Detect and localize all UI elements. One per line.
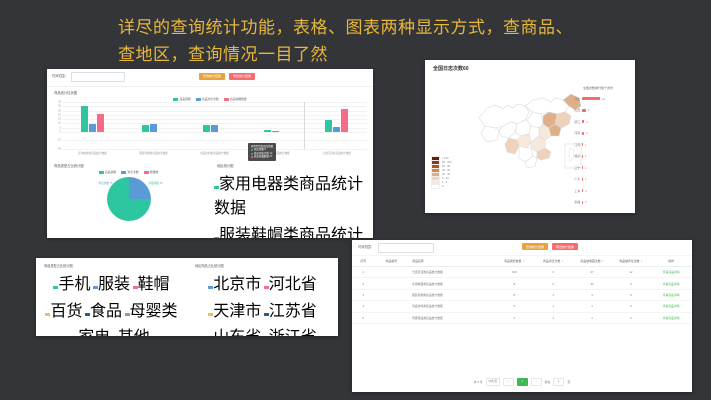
- legend-label: 江苏省: [269, 303, 317, 320]
- filter-label: 时间范围：: [52, 73, 68, 78]
- sort-icon[interactable]: ⇅: [522, 260, 524, 263]
- ranking-bar: [582, 178, 583, 181]
- table-body: 1日用百货类商品统计数据13062712查看商品详情2家用电器类商品统计数据82…: [352, 267, 692, 324]
- ranking-province-name: 辽宁: [567, 166, 580, 170]
- ranking-value: 1: [585, 143, 587, 147]
- map-body: ≥ 10080 - 10060 - 8040 - 6020 - 405 - 20…: [425, 72, 635, 204]
- ranking-bar: [582, 201, 583, 204]
- pie-left-chart[interactable]: 浏览次数 75 商品销量 25: [107, 177, 151, 221]
- ranking-province-name: 浙江: [567, 120, 580, 124]
- tooltip-dot-icon: [251, 153, 253, 155]
- pie-left-label-1: 商品销量 25: [149, 181, 163, 185]
- bar[interactable]: [264, 130, 271, 132]
- map-legend-label: 80 - 100: [442, 161, 452, 164]
- map-legend-label: 5 - 20: [442, 177, 449, 180]
- table-column-header[interactable]: 商品被评论次数⇅: [611, 256, 650, 267]
- table-cell-sales: 2: [495, 312, 534, 323]
- pies-left-legend-item[interactable]: 母婴类: [125, 297, 178, 321]
- table-column-header[interactable]: 商品浏览次数⇅: [534, 256, 573, 267]
- table-cell-name: 日用百货类商品统计数据: [408, 267, 495, 278]
- bar-group[interactable]: [306, 85, 367, 149]
- pie-left-legend-item[interactable]: 收藏数: [144, 170, 159, 174]
- view-detail-link[interactable]: 查看商品详情: [663, 316, 680, 320]
- legend-label: 食品: [90, 303, 122, 320]
- legend-label: 百货: [50, 303, 82, 320]
- ranking-row: 辽宁1: [567, 162, 629, 174]
- table-date-range-input[interactable]: [378, 243, 434, 253]
- tooltip-dot-icon: [251, 149, 253, 151]
- bar-group[interactable]: [245, 85, 306, 149]
- pie-left-box: 商品类型占比统计图 商品销量浏览次数收藏数 浏览次数 75 商品销量 25: [47, 160, 210, 238]
- tooltip-text: 商品收藏数量 27: [254, 155, 272, 158]
- y-axis-tick: -20: [57, 148, 61, 151]
- table-cell-idx: 2: [352, 278, 375, 289]
- y-axis: 35302520151050-10-20: [53, 102, 62, 149]
- ranking-value: 1: [585, 154, 587, 158]
- map-legend-label: ≥ 100: [442, 157, 448, 160]
- pies-right-legend-item[interactable]: 江苏省: [264, 297, 317, 321]
- table-cell-name: 食品饮料类商品统计数据: [408, 301, 495, 312]
- ranking-row: 上海0: [567, 185, 629, 197]
- legend-swatch-icon: [144, 171, 149, 174]
- table-search-button[interactable]: 查询统计结果: [522, 243, 548, 250]
- x-axis-label: 家用电器类商品统计数据: [62, 149, 123, 159]
- pie-right-legend-item[interactable]: 服装鞋帽类商品统计数据: [214, 221, 369, 239]
- pies-left-legend-item[interactable]: 食品: [85, 297, 122, 321]
- table-cell-code: [375, 267, 408, 278]
- ranking-province-name: 江苏: [567, 143, 580, 147]
- pie-charts-row: 商品类型占比统计图 商品销量浏览次数收藏数 浏览次数 75 商品销量 25 地区…: [47, 160, 373, 238]
- ranking-value: 1: [585, 166, 587, 170]
- table-cell-views: 1: [534, 289, 573, 300]
- x-axis-labels: 家用电器类商品统计数据服装鞋帽类商品统计数据食品饮料类商品统计数据母婴用品类商品…: [62, 149, 367, 159]
- table-cell-favs: 1: [573, 301, 612, 312]
- pies-panel-right: 地区商品占比统计图 北京市河北省天津市江苏省山东省浙江省广东省上海市福建省四川省: [187, 258, 338, 336]
- pies-left-legend[interactable]: 手机服装鞋帽百货食品母婴类家电其他: [36, 270, 187, 336]
- table-toolbar: 时间范围： 查询统计结果 导出统计结果: [352, 240, 692, 256]
- map-title: 全国日志次数60: [433, 65, 635, 72]
- view-detail-link[interactable]: 查看商品详情: [663, 304, 680, 308]
- bar[interactable]: [211, 125, 218, 132]
- pies-panel-left: 商品类型占比统计图 手机服装鞋帽百货食品母婴类家电其他: [36, 258, 187, 336]
- ranking-row: 河南3: [567, 128, 629, 140]
- pagination[interactable]: 共 5 条 10条/页 ‹ 1 › 前往 1 页: [352, 378, 692, 386]
- ranking-value: 5: [588, 108, 590, 112]
- table-cell-idx: 3: [352, 289, 375, 300]
- legend-swatch-icon: [121, 171, 126, 174]
- table-cell-code: [375, 312, 408, 323]
- pie-right-caption: 地区统计图: [217, 163, 373, 168]
- pies-right-legend[interactable]: 北京市河北省天津市江苏省山东省浙江省广东省上海市福建省四川省: [187, 270, 338, 336]
- legend-label: 鞋帽: [138, 276, 170, 293]
- table-cell-name: 家用电器类商品统计数据: [408, 278, 495, 289]
- pie-left-label-0: 浏览次数 75: [99, 181, 113, 185]
- legend-label: 山东省: [213, 329, 261, 336]
- legend-label: 天津市: [213, 303, 261, 320]
- pie-left-legend-item[interactable]: 商品销量: [99, 170, 116, 174]
- table-cell-views: 1: [534, 301, 573, 312]
- province-ranking-list: 全国次数排行前十省份 河北24山西5浙江3河南3江苏1福建1辽宁1广东1上海0新…: [567, 86, 629, 208]
- search-button[interactable]: 查询统计结果: [199, 73, 225, 80]
- legend-label: 商品销量: [105, 170, 116, 174]
- table-filter-label: 时间范围：: [358, 244, 374, 249]
- table-cell-code: [375, 289, 408, 300]
- table-cell-action: 查看商品详情: [650, 267, 692, 278]
- bar[interactable]: [341, 109, 348, 132]
- pies-left-legend-item[interactable]: 鞋帽: [133, 270, 170, 294]
- ranking-value: 0: [585, 189, 587, 193]
- bar[interactable]: [325, 120, 332, 132]
- legend-label: 手机: [58, 276, 90, 293]
- table-cell-idx: 5: [352, 312, 375, 323]
- export-button[interactable]: 导出统计结果: [229, 73, 255, 80]
- ranking-bar: [582, 143, 583, 146]
- page-size-select[interactable]: 10条/页: [486, 378, 500, 386]
- map-legend-label: 0: [442, 185, 443, 188]
- table-cell-sales: 8: [495, 289, 534, 300]
- table-row: 4食品饮料类商品统计数据5115查看商品详情: [352, 301, 692, 312]
- table-column-header[interactable]: 操作: [650, 256, 692, 267]
- map-legend-label: 1 - 5: [442, 181, 447, 184]
- ranking-row: 江苏1: [567, 139, 629, 151]
- table-cell-code: [375, 301, 408, 312]
- table-cell-comments: 5: [611, 301, 650, 312]
- table-cell-sales: 8: [495, 278, 534, 289]
- table-cell-favs: 27: [573, 267, 612, 278]
- table-cell-views: 6: [534, 267, 573, 278]
- ranking-value: 1: [585, 177, 587, 181]
- y-axis-tick: 35: [58, 101, 61, 104]
- table-cell-favs: 1: [573, 312, 612, 323]
- bar[interactable]: [333, 127, 340, 132]
- table-cell-comments: 12: [611, 267, 650, 278]
- table-panel: 时间范围： 查询统计结果 导出统计结果 序号商品编号商品名称商品销售数量⇅商品浏…: [352, 240, 692, 392]
- table-cell-code: [375, 278, 408, 289]
- table-cell-comments: 2: [611, 312, 650, 323]
- ranking-value: 3: [586, 120, 588, 124]
- table-column-header[interactable]: 商品被收藏次数⇅: [573, 256, 612, 267]
- sort-icon[interactable]: ⇅: [561, 260, 563, 263]
- map-legend-label: 40 - 60: [442, 169, 450, 172]
- table-cell-views: 2: [534, 278, 573, 289]
- table-cell-comments: 9: [611, 278, 650, 289]
- pies-left-legend-item[interactable]: 手机: [53, 270, 90, 294]
- map-color-scale-legend: ≥ 10080 - 10060 - 8040 - 6020 - 405 - 20…: [431, 156, 452, 188]
- table-cell-favs: 3: [573, 289, 612, 300]
- view-detail-link[interactable]: 查看商品详情: [663, 293, 680, 297]
- pies-left-legend-item[interactable]: 家电: [73, 323, 110, 336]
- bar-group[interactable]: [123, 85, 184, 149]
- prev-page-button[interactable]: ‹: [503, 378, 514, 386]
- table-row: 5母婴用品类商品统计数据2112查看商品详情: [352, 312, 692, 323]
- legend-label: 家电: [78, 329, 110, 336]
- table-cell-name: 服装鞋帽类商品统计数据: [408, 289, 495, 300]
- view-detail-link[interactable]: 查看商品详情: [663, 282, 680, 286]
- ranking-row: 山西5: [567, 105, 629, 117]
- ranking-row: 广东1: [567, 174, 629, 186]
- x-axis-label: 服装鞋帽类商品统计数据: [123, 149, 184, 159]
- ranking-province-name: 河北: [567, 97, 580, 101]
- y-axis-tick: 20: [58, 113, 61, 116]
- legend-label: 浙江省: [269, 329, 317, 336]
- bar-plot-area[interactable]: [62, 102, 367, 149]
- ranking-row: 河北24: [567, 93, 629, 105]
- ranking-province-name: 新疆: [567, 200, 580, 204]
- bar[interactable]: [97, 114, 104, 132]
- ranking-value: 24: [602, 97, 605, 101]
- sort-icon[interactable]: ⇅: [641, 260, 643, 263]
- legend-swatch-icon: [99, 171, 104, 174]
- x-axis-label: 日用百货类商品统计数据: [306, 149, 367, 159]
- table-cell-views: 1: [534, 312, 573, 323]
- legend-label: 北京市: [213, 276, 261, 293]
- table-column-header[interactable]: 商品编号: [375, 256, 408, 267]
- table-cell-idx: 1: [352, 267, 375, 278]
- next-page-button[interactable]: ›: [531, 378, 542, 386]
- sort-icon[interactable]: ⇅: [602, 260, 604, 263]
- charts-dashboard-panel: 时间范围： 查询统计结果 导出统计结果 商品统计柱状图 商品销量商品浏览次数商品…: [47, 69, 373, 238]
- y-axis-tick: 5: [60, 126, 61, 129]
- legend-label: 母婴类: [130, 303, 178, 320]
- ranking-province-name: 河南: [567, 131, 580, 135]
- pagination-total: 共 5 条: [474, 380, 483, 384]
- table-cell-comments: 5: [611, 289, 650, 300]
- bar[interactable]: [89, 124, 96, 132]
- y-axis-tick: -10: [57, 139, 61, 142]
- date-range-input[interactable]: [71, 72, 125, 82]
- table-row: 2家用电器类商品统计数据82329查看商品详情: [352, 278, 692, 289]
- pie-left-legend[interactable]: 商品销量浏览次数收藏数: [47, 170, 210, 174]
- tooltip-dot-icon: [251, 156, 253, 158]
- ranking-row: 福建1: [567, 151, 629, 163]
- ranking-bar: [582, 189, 583, 192]
- ranking-province-name: 广东: [567, 177, 580, 181]
- legend-label: 浏览次数: [127, 170, 138, 174]
- y-axis-tick: 15: [58, 118, 61, 121]
- legend-label: 服装: [98, 276, 130, 293]
- table-cell-name: 母婴用品类商品统计数据: [408, 312, 495, 323]
- map-legend-row: 0: [431, 184, 452, 188]
- pies-right-legend-item[interactable]: 浙江省: [264, 323, 317, 336]
- table-column-header[interactable]: 商品名称: [408, 256, 495, 267]
- bar[interactable]: [272, 131, 279, 132]
- bar[interactable]: [81, 106, 88, 132]
- pies-left-caption: 商品类型占比统计图: [44, 263, 187, 268]
- ranking-bar: [582, 132, 584, 135]
- ranking-title: 全国次数排行前十省份: [567, 86, 629, 90]
- ranking-bar: [582, 97, 600, 100]
- ranking-row: 浙江3: [567, 116, 629, 128]
- y-axis-tick: 30: [58, 105, 61, 108]
- table-cell-idx: 4: [352, 301, 375, 312]
- y-axis-tick: 0: [60, 130, 61, 133]
- ranking-bar: [582, 120, 584, 123]
- legend-label: 收藏数: [150, 170, 158, 174]
- legend-label: 服装鞋帽类商品统计数据: [214, 227, 363, 239]
- pies-left-legend-item[interactable]: 其他: [113, 323, 150, 336]
- page-button-1[interactable]: 1: [517, 378, 528, 386]
- statistics-table: 序号商品编号商品名称商品销售数量⇅商品浏览次数⇅商品被收藏次数⇅商品被评论次数⇅…: [352, 256, 692, 324]
- pies-right-legend-item[interactable]: 河北省: [264, 270, 317, 294]
- map-legend-label: 60 - 80: [442, 165, 450, 168]
- pie-right-legend[interactable]: 家用电器类商品统计数据服装鞋帽类商品统计数据食品饮料类商品统计数据母婴用品类商品…: [210, 170, 373, 238]
- view-detail-link[interactable]: 查看商品详情: [663, 270, 680, 274]
- pie-right-legend-item[interactable]: 家用电器类商品统计数据: [214, 170, 369, 218]
- ranking-bar: [582, 109, 586, 112]
- bar[interactable]: [142, 125, 149, 132]
- chart-tooltip: 日用百货类商品销量商品销量 6商品浏览次数 12商品收藏数量 27: [248, 143, 277, 161]
- ranking-province-name: 上海: [567, 189, 580, 193]
- legend-label: 河北省: [269, 276, 317, 293]
- table-row: 1日用百货类商品统计数据13062712查看商品详情: [352, 267, 692, 278]
- pies-panel: 商品类型占比统计图 手机服装鞋帽百货食品母婴类家电其他 地区商品占比统计图 北京…: [36, 258, 338, 336]
- ranking-row: 新疆0: [567, 197, 629, 209]
- table-cell-favs: 32: [573, 278, 612, 289]
- table-cell-action: 查看商品详情: [650, 301, 692, 312]
- map-panel: 全国日志次数60: [425, 60, 635, 213]
- x-axis-label: 食品饮料类商品统计数据: [184, 149, 245, 159]
- tooltip-row: 商品收藏数量 27: [251, 155, 274, 158]
- bar-chart: 35302520151050-10-20 家用电器类商品统计数据服装鞋帽类商品统…: [53, 102, 367, 159]
- table-row: 3服装鞋帽类商品统计数据8135查看商品详情: [352, 289, 692, 300]
- goto-suffix: 页: [567, 380, 570, 384]
- table-header-row: 序号商品编号商品名称商品销售数量⇅商品浏览次数⇅商品被收藏次数⇅商品被评论次数⇅…: [352, 256, 692, 267]
- ranking-province-name: 福建: [567, 154, 580, 158]
- ranking-value: 0: [585, 200, 587, 204]
- pies-right-legend-item[interactable]: 北京市: [208, 270, 261, 294]
- goto-input[interactable]: 1: [553, 378, 564, 386]
- hover-marker-line: [304, 102, 305, 149]
- table-cell-sales: 5: [495, 301, 534, 312]
- table-export-button[interactable]: 导出统计结果: [552, 243, 578, 250]
- y-axis-tick: 25: [58, 109, 61, 112]
- table-column-header[interactable]: 商品销售数量⇅: [495, 256, 534, 267]
- table-toolbar-buttons: 查询统计结果 导出统计结果: [522, 243, 578, 250]
- map-legend-label: 20 - 40: [442, 173, 450, 176]
- pie-left-caption: 商品类型占比统计图: [54, 163, 210, 168]
- bar[interactable]: [150, 124, 157, 132]
- bar-group[interactable]: [184, 85, 245, 149]
- table-cell-action: 查看商品详情: [650, 289, 692, 300]
- presentation-slide: 详尽的查询统计功能，表格、图表两种显示方式，查商品、 查地区，查询情况一目了然 …: [0, 0, 711, 400]
- pies-left-legend-item[interactable]: 服装: [93, 270, 130, 294]
- table-column-header[interactable]: 序号: [352, 256, 375, 267]
- map-legend-swatch-icon: [431, 184, 440, 189]
- y-axis-tick: 10: [58, 122, 61, 125]
- table-cell-action: 查看商品详情: [650, 278, 692, 289]
- legend-label: 其他: [118, 329, 150, 336]
- bar-group[interactable]: [62, 85, 123, 149]
- pies-right-legend-item[interactable]: 天津市: [208, 297, 261, 321]
- pie-left-legend-item[interactable]: 浏览次数: [121, 170, 138, 174]
- table-cell-action: 查看商品详情: [650, 312, 692, 323]
- ranking-bar: [582, 155, 583, 158]
- toolbar-buttons: 查询统计结果 导出统计结果: [199, 73, 255, 80]
- ranking-province-name: 山西: [567, 108, 580, 112]
- bar[interactable]: [203, 125, 210, 132]
- pies-left-legend-item[interactable]: 百货: [45, 297, 82, 321]
- table-cell-sales: 130: [495, 267, 534, 278]
- ranking-bar: [582, 166, 583, 169]
- pies-right-caption: 地区商品占比统计图: [195, 263, 338, 268]
- ranking-value: 3: [586, 131, 588, 135]
- pies-right-legend-item[interactable]: 山东省: [208, 323, 261, 336]
- legend-label: 家用电器类商品统计数据: [214, 176, 363, 217]
- goto-label: 前往: [545, 380, 551, 384]
- pie-right-box: 地区统计图 家用电器类商品统计数据服装鞋帽类商品统计数据食品饮料类商品统计数据母…: [210, 160, 373, 238]
